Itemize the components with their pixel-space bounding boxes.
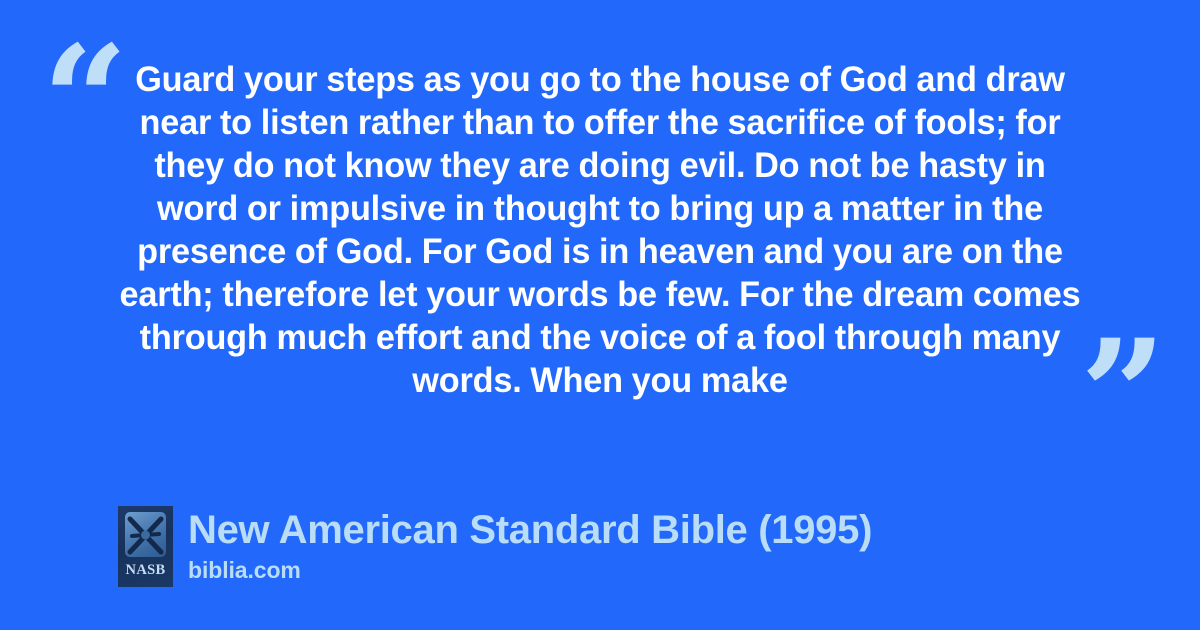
branding: NASB New American Standard Bible (1995) … xyxy=(118,506,872,587)
nasb-logo: NASB xyxy=(118,506,173,587)
close-quote-icon: ” xyxy=(1080,320,1166,470)
brand-text: New American Standard Bible (1995) bibli… xyxy=(188,506,872,584)
open-quote-icon: “ xyxy=(42,26,128,176)
bible-version-title: New American Standard Bible (1995) xyxy=(188,507,872,553)
bible-quote-card: “ Guard your steps as you go to the hous… xyxy=(0,0,1200,630)
source-url[interactable]: biblia.com xyxy=(188,557,872,584)
nasb-logo-label: NASB xyxy=(118,562,173,579)
quote-text: Guard your steps as you go to the house … xyxy=(118,58,1083,402)
nasb-sword-cross-icon xyxy=(125,512,166,557)
